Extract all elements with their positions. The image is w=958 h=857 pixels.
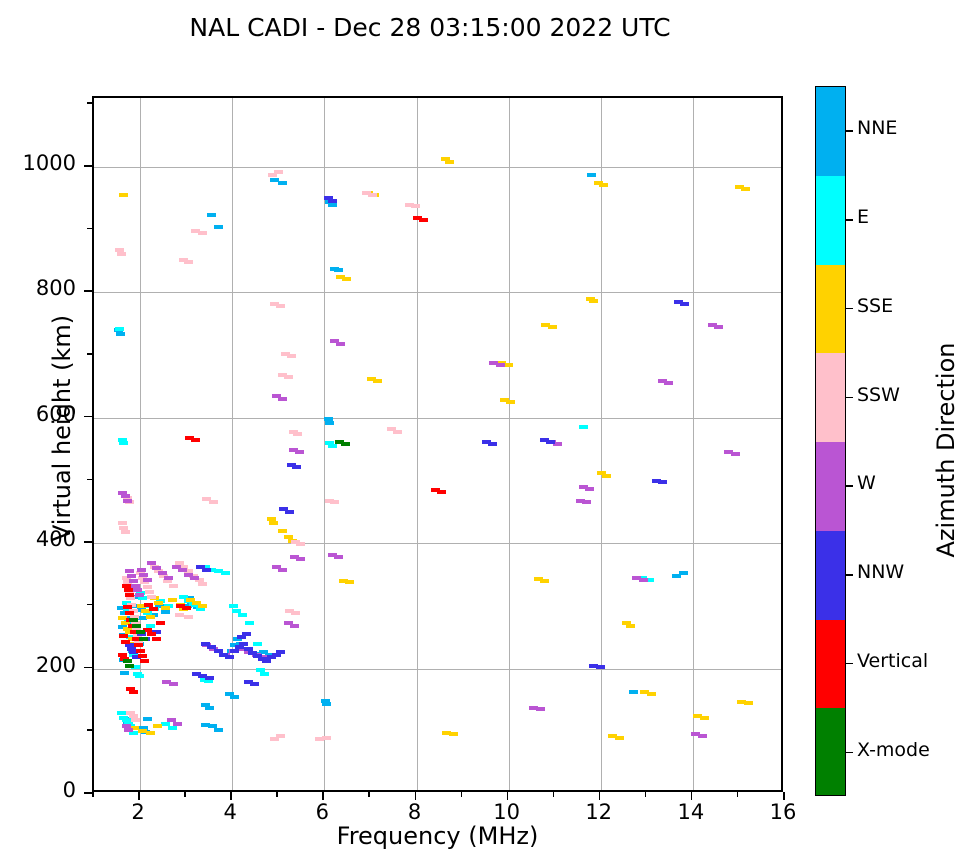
colorbar-segment-ssw[interactable]	[816, 353, 845, 442]
data-marker	[679, 571, 688, 575]
y-axis-minor-tick	[87, 353, 92, 355]
colorbar-tick-label: X-mode	[857, 739, 930, 761]
data-marker	[147, 632, 156, 636]
data-marker	[238, 613, 247, 617]
data-marker	[119, 441, 128, 445]
data-marker	[138, 596, 147, 600]
data-marker	[276, 650, 285, 654]
colorbar-title: Azimuth Direction	[932, 190, 958, 710]
data-marker	[169, 682, 178, 686]
data-marker	[658, 480, 667, 484]
data-marker	[178, 568, 187, 572]
colorbar[interactable]	[815, 86, 846, 796]
data-marker	[582, 500, 591, 504]
data-marker	[325, 421, 334, 425]
data-marker	[230, 695, 239, 699]
data-marker	[589, 299, 598, 303]
data-marker	[139, 573, 148, 577]
y-axis-tick	[84, 792, 92, 794]
data-marker	[587, 173, 596, 177]
x-axis-tick-label: 14	[661, 800, 721, 824]
y-axis-tick	[84, 416, 92, 418]
data-marker	[119, 634, 128, 638]
data-marker	[504, 363, 513, 367]
colorbar-tick	[846, 574, 853, 576]
data-marker	[156, 621, 165, 625]
data-marker	[626, 624, 635, 628]
data-marker	[175, 613, 184, 617]
data-marker	[147, 595, 156, 599]
gridline-horizontal	[94, 418, 781, 419]
data-marker	[190, 576, 199, 580]
data-marker	[250, 682, 259, 686]
data-marker	[121, 530, 130, 534]
x-axis-tick-label: 16	[753, 800, 813, 824]
colorbar-tick-label: SSE	[857, 295, 893, 317]
data-marker	[290, 624, 299, 628]
x-axis-label: Frequency (MHz)	[92, 822, 783, 850]
data-marker	[296, 542, 305, 546]
data-marker	[136, 630, 145, 634]
data-marker	[144, 603, 153, 607]
data-marker	[488, 442, 497, 446]
colorbar-segment-nnw[interactable]	[816, 531, 845, 620]
data-marker	[131, 718, 140, 722]
data-marker	[242, 632, 251, 636]
data-marker	[123, 659, 132, 663]
data-marker	[152, 637, 161, 641]
data-marker	[342, 277, 351, 281]
gridline-vertical	[140, 98, 141, 790]
data-marker	[680, 302, 689, 306]
data-marker	[579, 425, 588, 429]
data-marker	[121, 494, 130, 498]
data-marker	[207, 213, 216, 217]
data-marker	[419, 218, 428, 222]
page-title: NAL CADI - Dec 28 03:15:00 2022 UTC	[0, 13, 860, 42]
x-axis-tick-label: 10	[477, 800, 537, 824]
colorbar-segment-w[interactable]	[816, 442, 845, 531]
data-marker	[125, 611, 134, 615]
x-axis-tick	[783, 792, 785, 800]
data-marker	[244, 647, 253, 651]
data-marker	[164, 576, 173, 580]
y-axis-label: Virtual height (km)	[48, 128, 76, 728]
x-axis-minor-tick	[461, 792, 463, 797]
colorbar-segment-nne[interactable]	[816, 87, 845, 176]
x-axis-tick-label: 2	[108, 800, 168, 824]
data-marker	[602, 474, 611, 478]
data-marker	[137, 568, 146, 572]
data-marker	[278, 568, 287, 572]
data-marker	[161, 722, 170, 726]
data-marker	[536, 707, 545, 711]
data-marker	[118, 653, 127, 657]
colorbar-segment-x-mode[interactable]	[816, 708, 845, 796]
x-axis-tick	[415, 792, 417, 800]
gridline-horizontal	[94, 543, 781, 544]
gridline-horizontal	[94, 167, 781, 168]
data-marker	[214, 225, 223, 229]
y-axis-minor-tick	[87, 102, 92, 104]
data-marker	[744, 701, 753, 705]
data-marker	[129, 618, 138, 622]
data-marker	[496, 363, 505, 367]
x-axis-tick-label: 12	[569, 800, 629, 824]
data-marker	[184, 615, 193, 619]
gridline-vertical	[693, 98, 694, 790]
colorbar-segment-sse[interactable]	[816, 265, 845, 354]
data-marker	[322, 736, 331, 740]
x-axis-minor-tick	[737, 792, 739, 797]
data-marker	[373, 379, 382, 383]
colorbar-tick	[846, 752, 853, 754]
data-marker	[131, 584, 140, 588]
data-marker	[293, 432, 302, 436]
data-marker	[615, 736, 624, 740]
data-marker	[639, 578, 648, 582]
data-marker	[120, 671, 129, 675]
data-marker	[119, 193, 128, 197]
data-marker	[139, 637, 148, 641]
data-marker	[506, 400, 515, 404]
data-marker	[278, 397, 287, 401]
x-axis-tick	[230, 792, 232, 800]
data-marker	[135, 593, 144, 597]
data-marker	[115, 327, 124, 331]
data-marker	[154, 601, 163, 605]
y-axis-tick	[84, 667, 92, 669]
colorbar-tick	[846, 130, 853, 132]
data-marker	[330, 500, 339, 504]
x-axis-tick	[138, 792, 140, 800]
data-marker	[295, 450, 304, 454]
ionogram-figure: NAL CADI - Dec 28 03:15:00 2022 UTC 0200…	[0, 0, 958, 857]
data-marker	[129, 714, 138, 718]
data-marker	[132, 624, 141, 628]
y-axis-minor-tick	[87, 604, 92, 606]
data-marker	[143, 717, 152, 721]
data-marker	[198, 231, 207, 235]
data-marker	[146, 731, 155, 735]
plot-canvas[interactable]	[92, 96, 783, 792]
data-marker	[205, 676, 214, 680]
data-marker	[147, 561, 156, 565]
data-marker	[269, 521, 278, 525]
data-marker	[345, 580, 354, 584]
data-marker	[191, 438, 200, 442]
data-marker	[368, 193, 377, 197]
gridline-horizontal	[94, 292, 781, 293]
data-marker	[168, 598, 177, 602]
gridline-vertical	[509, 98, 510, 790]
colorbar-tick-label: E	[857, 206, 869, 228]
data-marker	[127, 574, 136, 578]
data-marker	[629, 690, 638, 694]
colorbar-segment-e[interactable]	[816, 176, 845, 265]
data-marker	[328, 444, 337, 448]
data-marker	[285, 510, 294, 514]
colorbar-tick	[846, 485, 853, 487]
data-marker	[664, 381, 673, 385]
data-marker	[161, 606, 170, 610]
data-marker	[276, 304, 285, 308]
data-marker	[126, 596, 135, 600]
colorbar-tick-label: SSW	[857, 384, 900, 406]
data-marker	[124, 728, 133, 732]
data-marker	[123, 605, 132, 609]
data-marker	[741, 187, 750, 191]
x-axis-minor-tick	[368, 792, 370, 797]
data-marker	[124, 588, 133, 592]
data-marker	[296, 557, 305, 561]
data-marker	[158, 571, 167, 575]
x-axis-tick-label: 8	[385, 800, 445, 824]
gridline-horizontal	[94, 669, 781, 670]
data-marker	[245, 621, 254, 625]
data-marker	[599, 183, 608, 187]
colorbar-segment-vertical[interactable]	[816, 620, 845, 709]
data-marker	[205, 706, 214, 710]
gridline-vertical	[232, 98, 233, 790]
x-axis-tick	[322, 792, 324, 800]
y-axis-minor-tick	[87, 479, 92, 481]
y-axis-tick-label: 0	[0, 778, 76, 802]
data-marker	[731, 452, 740, 456]
x-axis-minor-tick	[184, 792, 186, 797]
data-marker	[278, 181, 287, 185]
data-marker	[276, 734, 285, 738]
data-marker	[125, 569, 134, 573]
data-marker	[161, 610, 170, 614]
data-marker	[214, 728, 223, 732]
data-marker	[168, 726, 177, 730]
data-marker	[198, 582, 207, 586]
data-marker	[449, 732, 458, 736]
data-marker	[146, 615, 155, 619]
data-marker	[225, 655, 234, 659]
data-marker	[700, 716, 709, 720]
colorbar-tick	[846, 397, 853, 399]
colorbar-tick	[846, 663, 853, 665]
data-marker	[292, 465, 301, 469]
data-marker	[143, 578, 152, 582]
data-marker	[445, 160, 454, 164]
data-marker	[173, 722, 182, 726]
data-marker	[411, 204, 420, 208]
x-axis-minor-tick	[92, 792, 94, 797]
data-marker	[136, 649, 145, 653]
data-marker	[116, 332, 125, 336]
data-marker	[202, 568, 211, 572]
data-marker	[119, 526, 128, 530]
data-marker	[117, 711, 126, 715]
data-marker	[596, 665, 605, 669]
x-axis-tick	[507, 792, 509, 800]
data-marker	[437, 490, 446, 494]
data-marker	[182, 606, 191, 610]
data-marker	[585, 487, 594, 491]
data-marker	[260, 672, 269, 676]
data-marker	[145, 590, 154, 594]
data-marker	[229, 604, 238, 608]
data-marker	[253, 642, 262, 646]
data-marker	[278, 529, 287, 533]
colorbar-tick	[846, 219, 853, 221]
data-marker	[134, 643, 143, 647]
x-axis-minor-tick	[553, 792, 555, 797]
data-marker	[169, 584, 178, 588]
data-marker	[138, 654, 147, 658]
data-marker	[129, 690, 138, 694]
x-axis-minor-tick	[645, 792, 647, 797]
x-axis-tick-label: 6	[292, 800, 352, 824]
y-axis-tick	[84, 165, 92, 167]
y-axis-minor-tick	[87, 228, 92, 230]
x-axis-tick-label: 4	[200, 800, 260, 824]
x-axis-minor-tick	[276, 792, 278, 797]
y-axis-tick	[84, 541, 92, 543]
data-marker	[125, 593, 134, 597]
data-marker	[153, 724, 162, 728]
x-axis-tick	[691, 792, 693, 800]
data-marker	[121, 640, 130, 644]
data-marker	[230, 649, 239, 653]
colorbar-tick	[846, 308, 853, 310]
y-axis-minor-tick	[87, 729, 92, 731]
data-marker	[129, 579, 138, 583]
data-marker	[135, 674, 144, 678]
colorbar-tick-label: NNW	[857, 561, 904, 583]
data-marker	[184, 260, 193, 264]
data-marker	[274, 170, 283, 174]
data-marker	[284, 375, 293, 379]
data-marker	[284, 535, 293, 539]
data-marker	[698, 734, 707, 738]
data-marker	[341, 442, 350, 446]
data-marker	[546, 440, 555, 444]
data-marker	[125, 664, 134, 668]
data-marker	[198, 604, 207, 608]
colorbar-tick-label: W	[857, 472, 876, 494]
gridline-vertical	[417, 98, 418, 790]
data-marker	[140, 659, 149, 663]
data-marker	[143, 585, 152, 589]
data-marker	[262, 659, 271, 663]
data-marker	[152, 566, 161, 570]
data-marker	[207, 645, 216, 649]
data-marker	[133, 588, 142, 592]
data-marker	[122, 584, 131, 588]
data-marker	[393, 430, 402, 434]
data-marker	[209, 500, 218, 504]
data-marker	[328, 203, 337, 207]
data-marker	[149, 607, 158, 611]
colorbar-tick-label: NNE	[857, 117, 897, 139]
data-marker	[322, 702, 331, 706]
data-marker	[118, 521, 127, 525]
data-marker	[239, 642, 248, 646]
data-marker	[328, 199, 337, 203]
data-marker	[781, 737, 784, 741]
y-axis-tick	[84, 290, 92, 292]
data-marker	[123, 499, 132, 503]
x-axis-tick	[599, 792, 601, 800]
data-marker	[117, 252, 126, 256]
data-marker	[714, 325, 723, 329]
data-marker	[548, 325, 557, 329]
data-marker	[334, 555, 343, 559]
colorbar-tick-label: Vertical	[857, 650, 928, 672]
data-marker	[336, 342, 345, 346]
data-marker	[287, 354, 296, 358]
data-marker	[221, 571, 230, 575]
data-marker	[647, 692, 656, 696]
data-marker	[334, 268, 343, 272]
gridline-vertical	[601, 98, 602, 790]
data-marker	[540, 579, 549, 583]
data-marker	[291, 611, 300, 615]
